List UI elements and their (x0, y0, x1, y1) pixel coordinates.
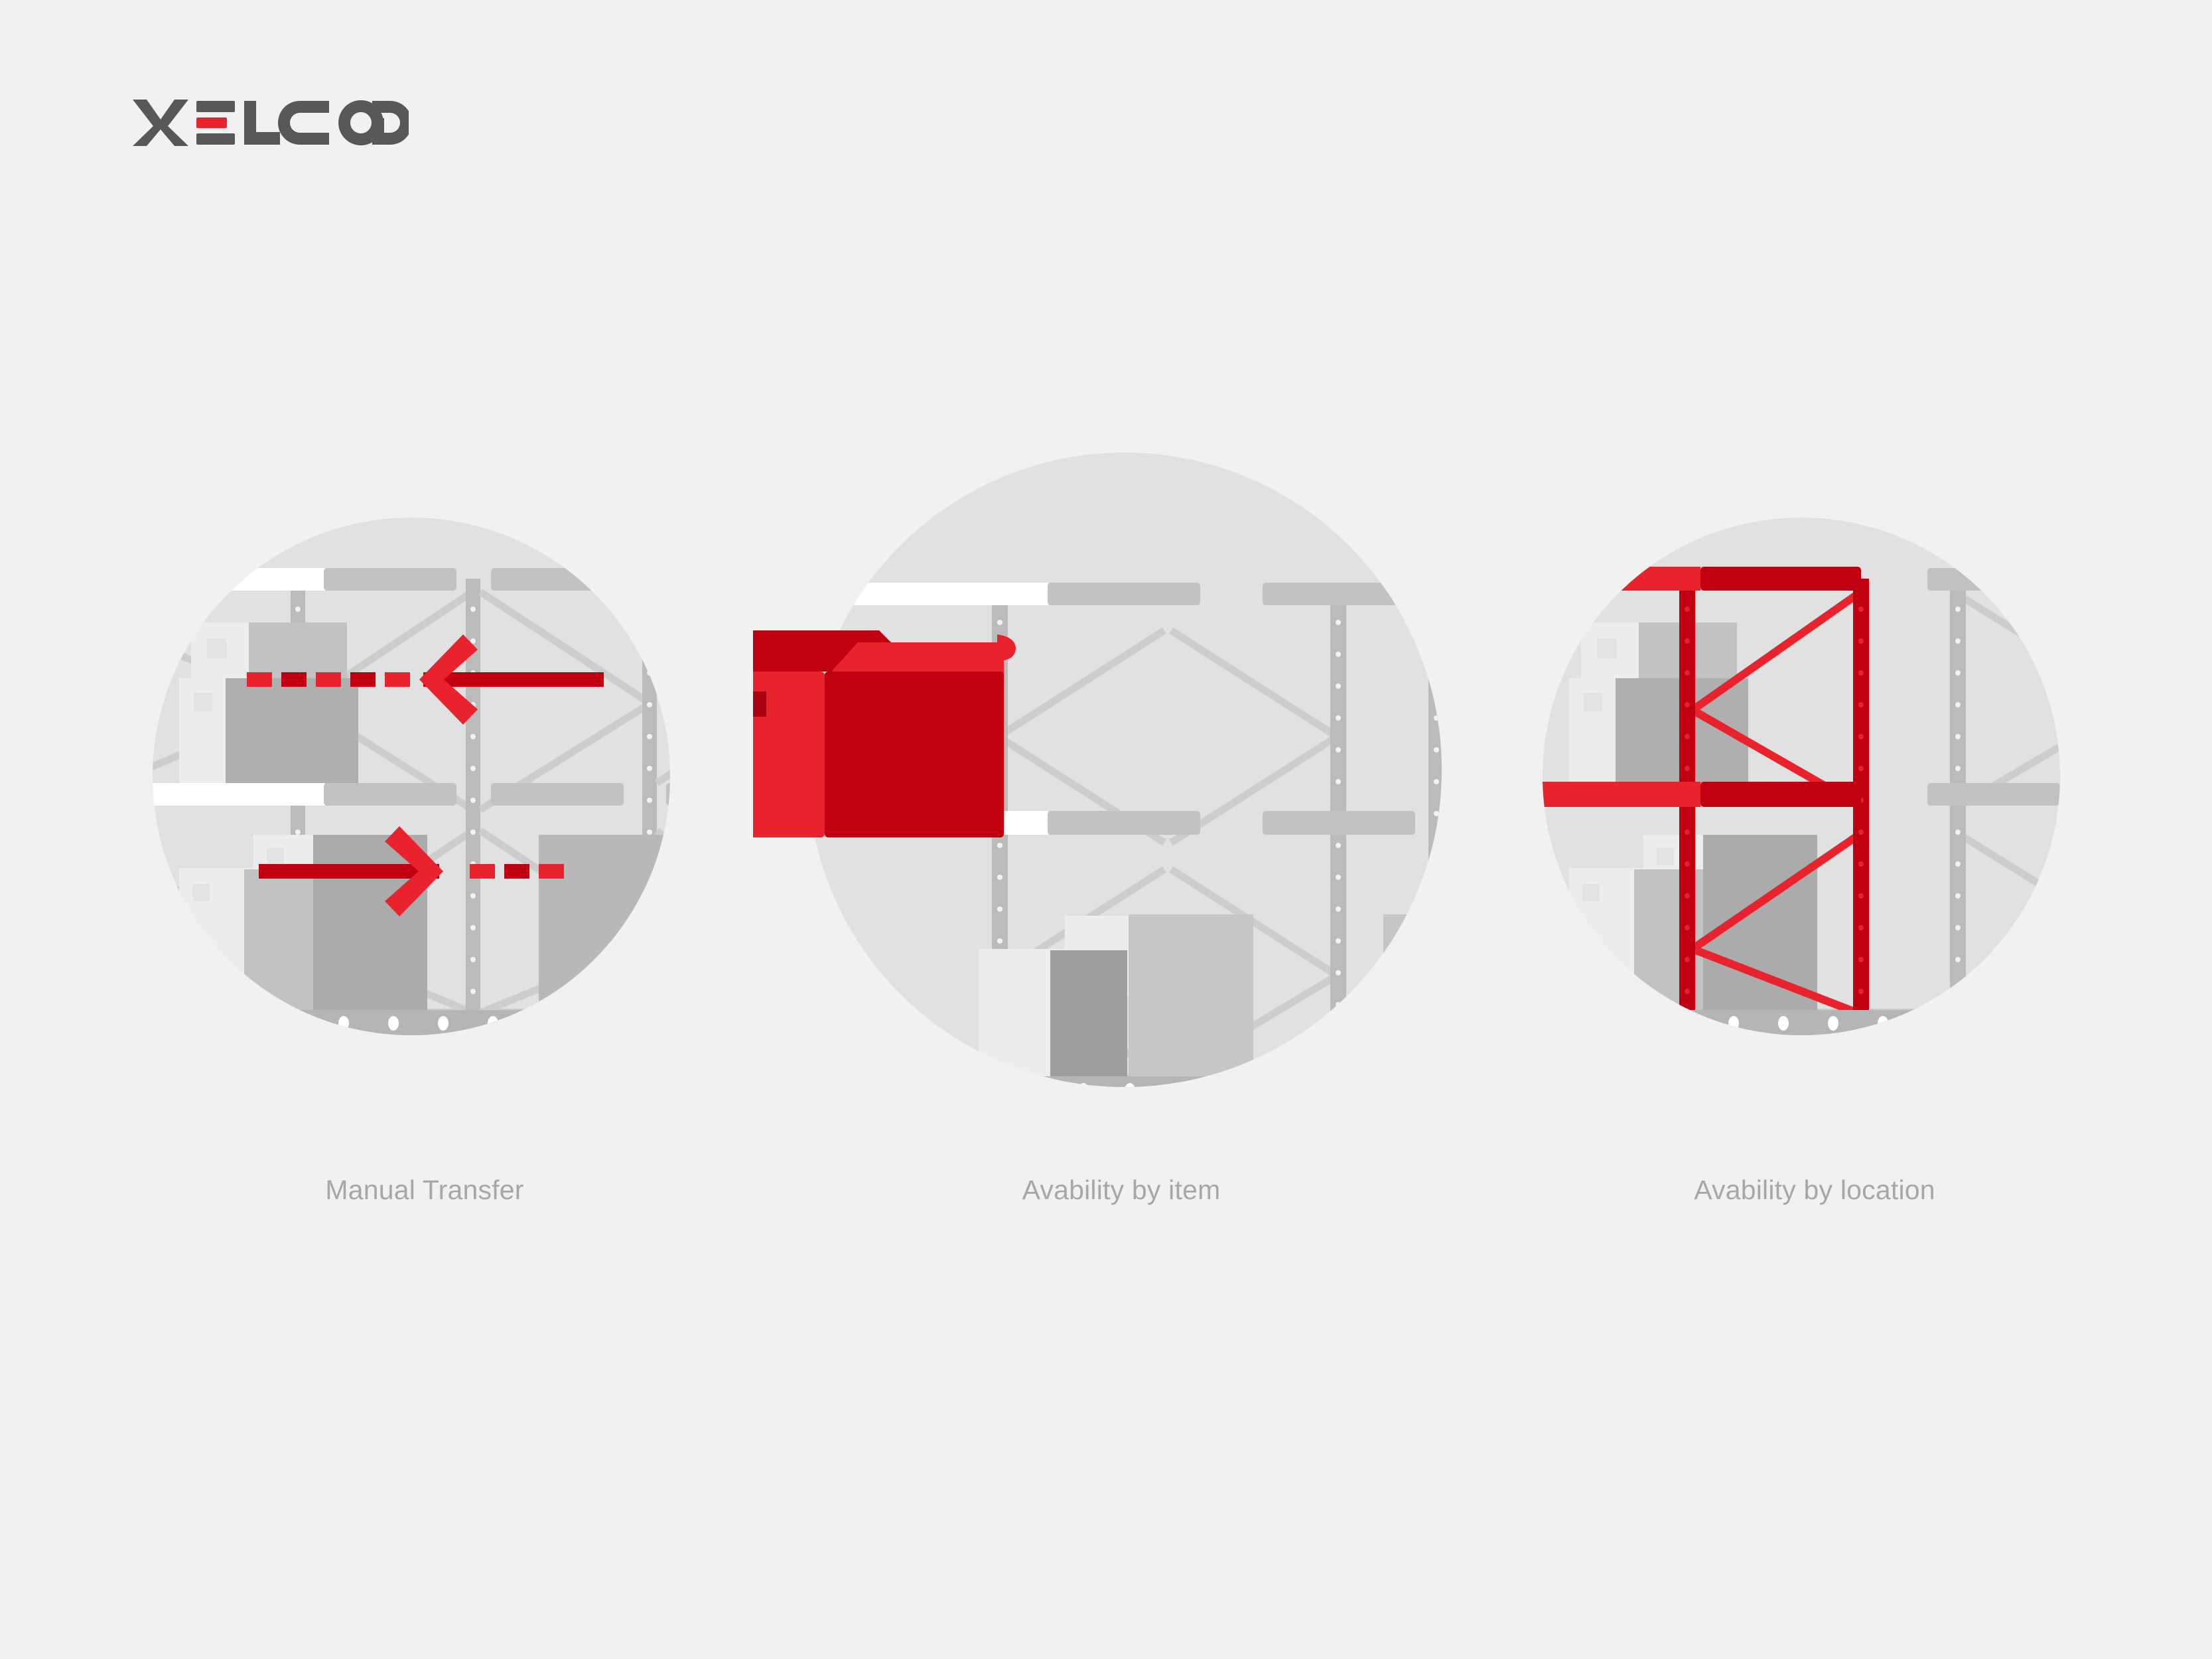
box-mid (539, 835, 665, 1014)
panel-caption-avability-by-item: Avability by item (753, 1175, 1489, 1206)
logo-letter-e-accent (196, 101, 235, 145)
floor-beam-dots (139, 1016, 747, 1031)
box-label (1582, 884, 1600, 901)
box-label (207, 638, 227, 658)
floor-base-beam (780, 1076, 1489, 1104)
shelf-beam-red-dark (1700, 782, 1861, 807)
box-mid (2093, 835, 2160, 1014)
shelf-beam (1927, 783, 2060, 806)
arrow-left-shaft (423, 672, 604, 687)
box-dark (1050, 950, 1127, 1082)
pallet-boxes-upper (1569, 622, 1748, 784)
manual-transfer-illustration (80, 438, 770, 1141)
shelf-beam (324, 783, 456, 806)
box-label (1597, 638, 1617, 658)
panel-caption-manual-transfer: Manual Transfer (80, 1175, 770, 1206)
box-mid (1129, 914, 1253, 1082)
logo-letter-c (278, 101, 329, 145)
feature-panels: Manual Transfer (0, 438, 2212, 1274)
avability-by-item-illustration (753, 438, 1489, 1141)
shelf-beam-white (80, 783, 325, 806)
box-label (194, 693, 212, 711)
floor-beam-dots (1529, 1016, 2137, 1031)
carton-label (753, 691, 766, 717)
box-label (1584, 693, 1602, 711)
shelf-beam (1263, 811, 1415, 835)
box-label (192, 884, 210, 901)
feature-panel-manual-transfer[interactable]: Manual Transfer (80, 438, 770, 1274)
shelf-beam (324, 568, 456, 591)
box-label (267, 848, 284, 865)
box-dark (226, 678, 358, 784)
logo-letter-x (133, 100, 188, 146)
logo-accent-bar (196, 117, 227, 128)
box-label (1657, 848, 1674, 865)
shelf-beam-red-dark (1700, 567, 1861, 591)
shelf-beam (1048, 811, 1200, 835)
shelf-beam (1048, 583, 1200, 605)
arrow-left-dash-segments (247, 672, 410, 687)
open-carton-box (753, 630, 1016, 837)
logo-letter-l (244, 101, 280, 145)
shelf-beam (1927, 568, 2060, 591)
logo-letter-d (372, 101, 409, 145)
floor-beam-dots (799, 1083, 1460, 1098)
shelf-beam-white (853, 583, 1048, 605)
feature-panel-avability-by-location[interactable]: Avability by location (1470, 438, 2160, 1274)
box-mid (2089, 717, 2160, 796)
shelf-beam (1263, 583, 1415, 605)
shelf-beam-white (153, 568, 325, 591)
arrow-right-shaft (259, 864, 439, 879)
shelf-beam (491, 568, 624, 591)
shelf-beam-red-bright (1470, 782, 1700, 807)
shelf-beam (491, 783, 624, 806)
shelf-beam-red-bright (1541, 567, 1700, 591)
rack-post-holes (647, 607, 652, 994)
panel-caption-avability-by-location: Avability by location (1470, 1175, 2160, 1206)
avability-by-location-illustration (1470, 438, 2160, 1141)
brand-logo (130, 97, 409, 149)
feature-panel-avability-by-item[interactable]: Avability by item (753, 438, 1489, 1274)
arrow-right-dash-segments (470, 864, 564, 879)
carton-front-face (825, 672, 1004, 837)
rack-post (1428, 592, 1444, 1076)
pallet-boxes-upper (179, 622, 358, 784)
